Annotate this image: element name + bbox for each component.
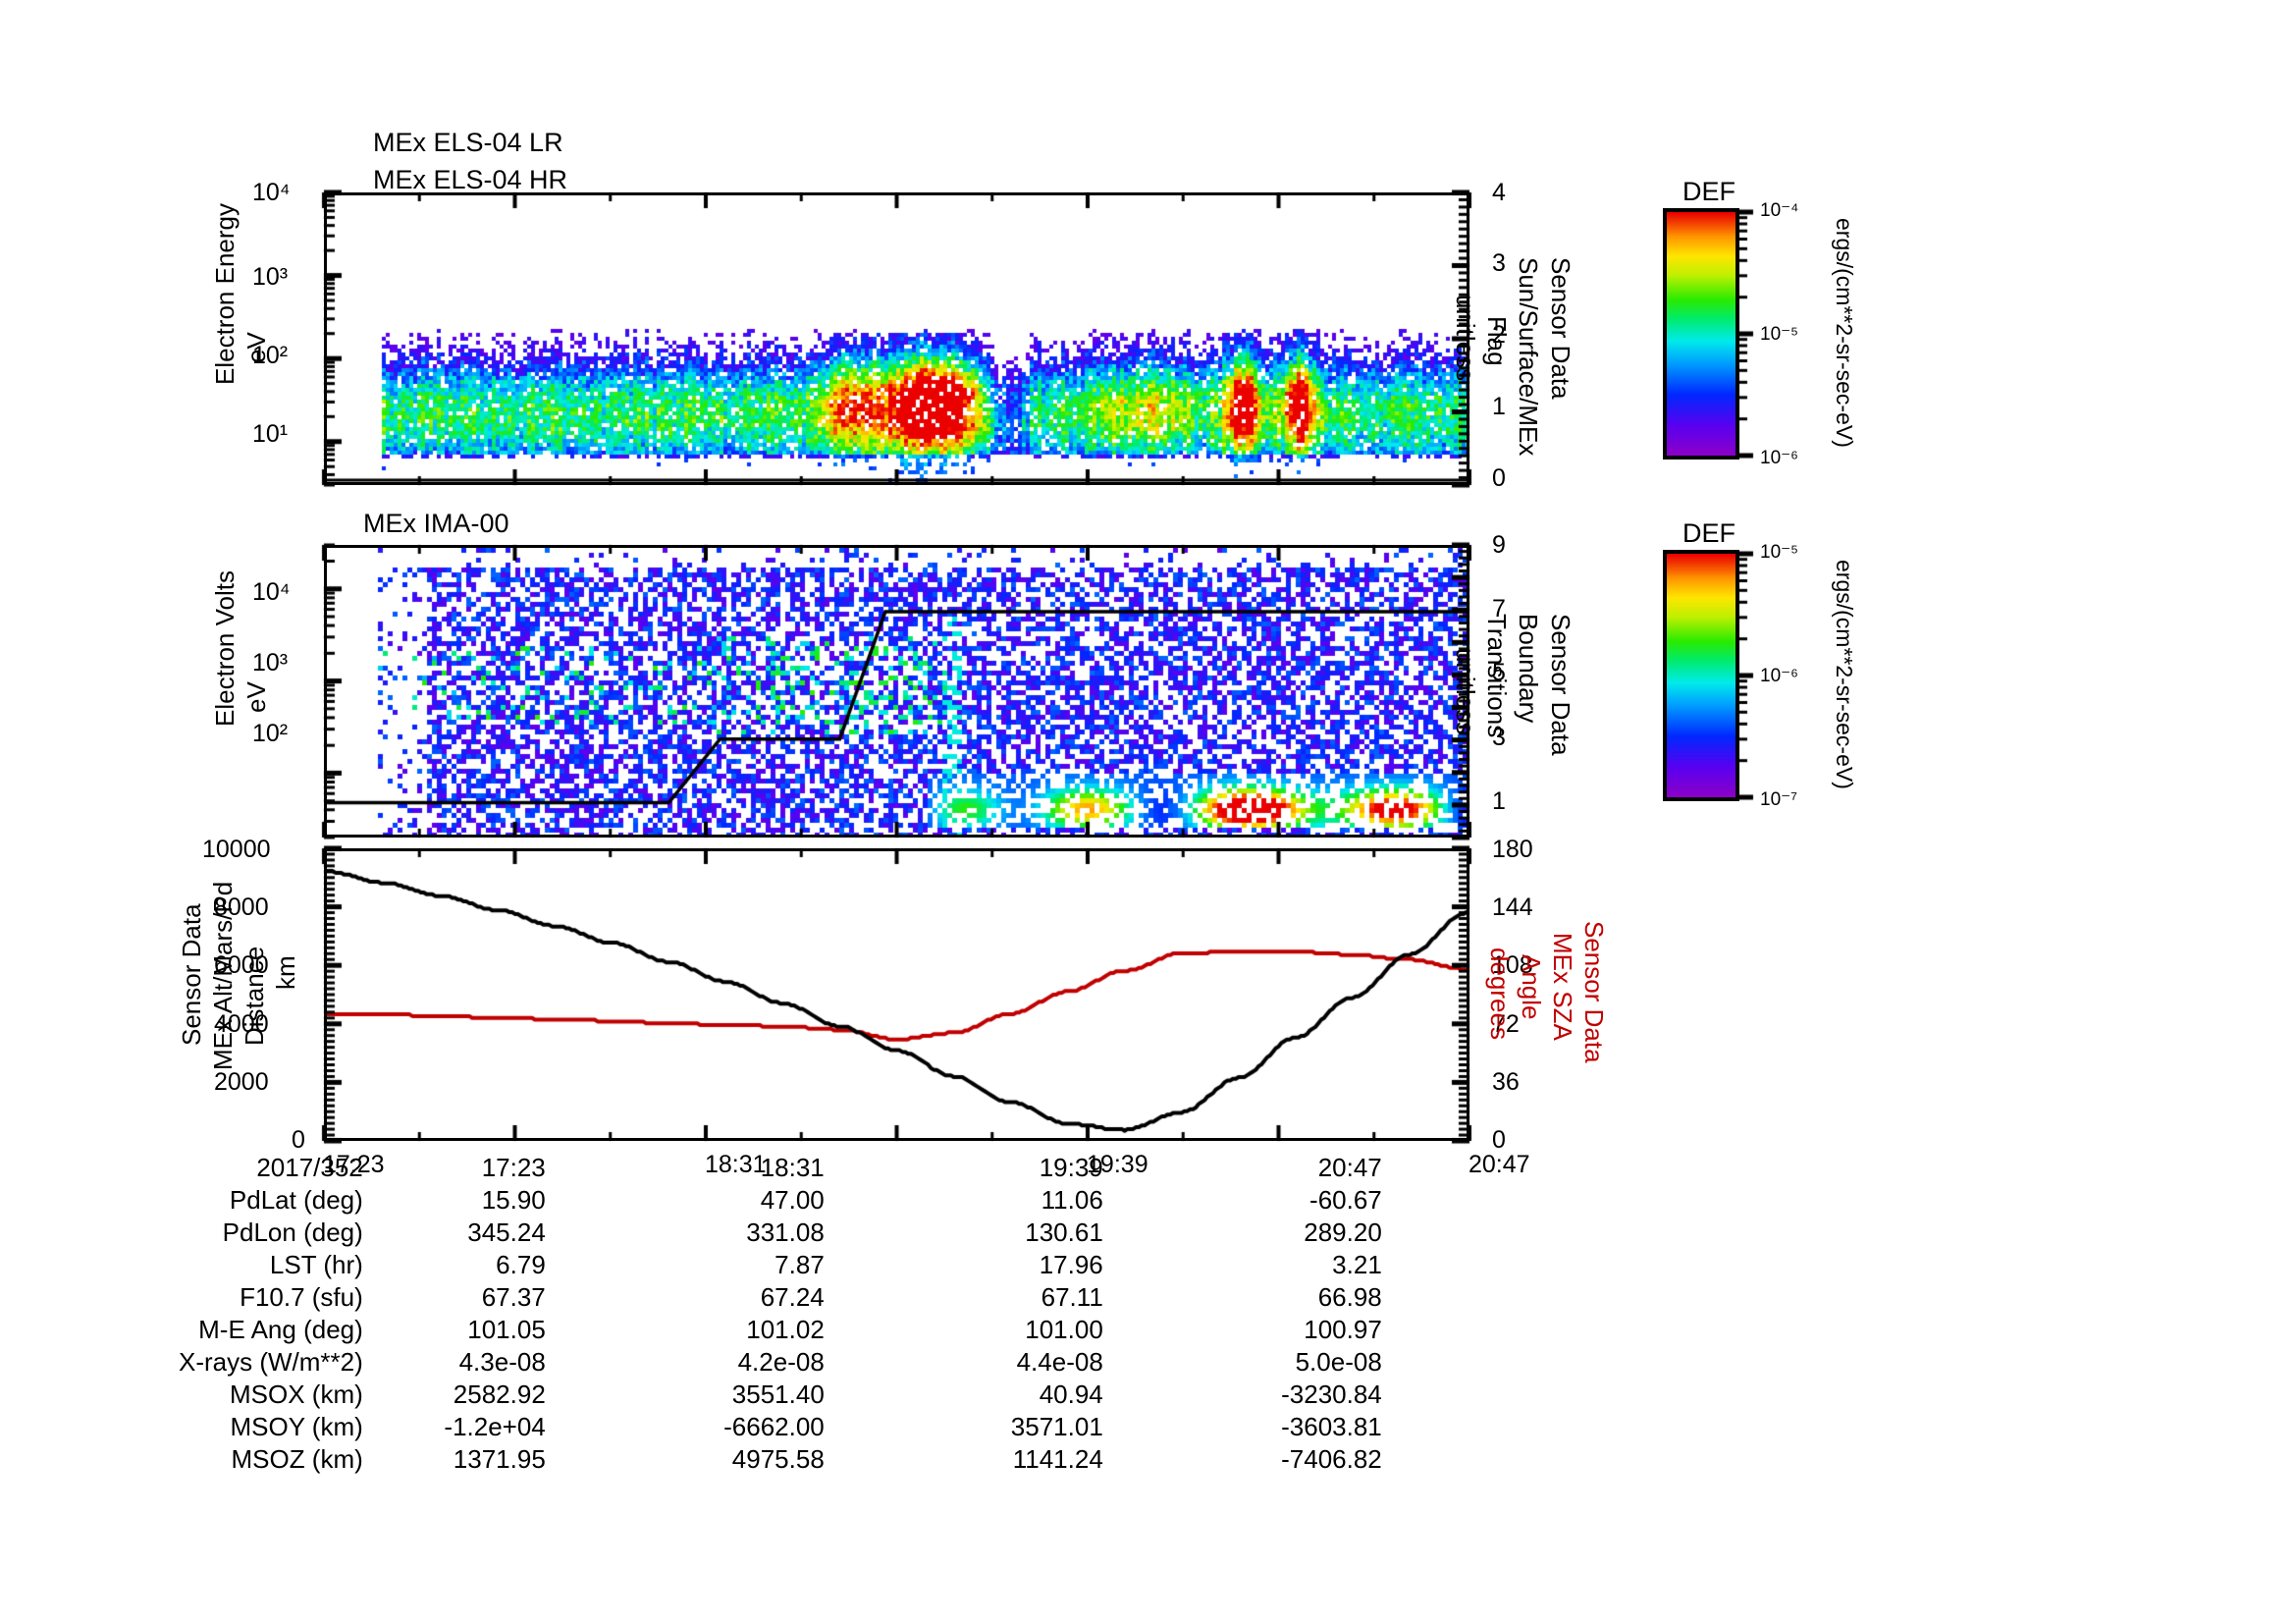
table-cell: 7.87 [548,1250,825,1280]
eph-right-axis-label-4: degrees [1484,947,1515,1040]
time-axis-label: 18:31 [705,1151,767,1179]
table-row: PdLon (deg)345.24331.08130.61289.20 [179,1217,1382,1248]
table-cell: 4.4e-08 [827,1347,1103,1378]
time-axis-label: 19:39 [1087,1151,1148,1179]
table-cell: 3.21 [1105,1250,1382,1280]
table-row-label: MSOZ (km) [179,1444,377,1475]
ima-right-axis-label-2: Boundary [1513,614,1543,723]
eph-rtick-36: 36 [1492,1068,1520,1097]
table-cell: -3230.84 [1105,1380,1382,1410]
table-row: M-E Ang (deg)101.05101.02101.00100.97 [179,1315,1382,1345]
table-cell: -1.2e+04 [379,1412,546,1442]
colorbar-ima-units: ergs/(cm**2-sr-sec-eV) [1831,560,1857,789]
table-row: MSOY (km)-1.2e+04-6662.003571.01-3603.81 [179,1412,1382,1442]
table-cell: 130.61 [827,1217,1103,1248]
table-cell: -60.67 [1105,1185,1382,1216]
table-cell: 6.79 [379,1250,546,1280]
table-row-label: F10.7 (sfu) [179,1282,377,1313]
ima-right-axis-label-1: Sensor Data [1545,614,1575,756]
els-rtick-1: 1 [1492,393,1506,421]
els-right-axis-label-2: Sun/Surface/MEx [1513,257,1543,456]
colorbar-els-title: DEF [1682,177,1735,207]
table-cell: 1371.95 [379,1444,546,1475]
table-cell: 18:31 [548,1153,825,1183]
ima-left-axis-label-1: Electron Volts [210,570,240,727]
table-cell: 345.24 [379,1217,546,1248]
colorbar-ima-title: DEF [1682,518,1735,549]
els-rtick-3: 3 [1492,249,1506,278]
panel-els-title-lr: MEx ELS-04 LR [373,128,563,158]
table-row-label: PdLat (deg) [179,1185,377,1216]
els-right-axis-label-3: Flag [1481,316,1512,366]
table-cell: 331.08 [548,1217,825,1248]
panel-ima-axis-ticks [294,535,1502,849]
colorbar-els-max: 10⁻⁴ [1760,199,1798,222]
table-row-label: X-rays (W/m**2) [179,1347,377,1378]
ima-rtick-1: 1 [1492,787,1506,816]
table-row: PdLat (deg)15.9047.0011.06-60.67 [179,1185,1382,1216]
table-row: F10.7 (sfu)67.3767.2467.1166.98 [179,1282,1382,1313]
els-right-axis-label-4: unitless [1450,295,1480,381]
ima-rtick-9: 9 [1492,531,1506,560]
colorbar-ima-gradient [1667,554,1735,797]
eph-left-axis-label-4: km [271,955,301,990]
table-cell: 67.11 [827,1282,1103,1313]
ima-ytick-2: 10² [252,720,288,748]
table-row: MSOZ (km)1371.954975.581141.24-7406.82 [179,1444,1382,1475]
ephemeris-table: 2017/35217:2318:3119:3920:47PdLat (deg)1… [177,1151,1384,1477]
els-rtick-4: 4 [1492,179,1506,207]
table-row-label: MSOY (km) [179,1412,377,1442]
table-cell: 2582.92 [379,1380,546,1410]
eph-left-axis-label-3: Distance [240,947,270,1046]
panel-els-axis-ticks [294,183,1502,497]
table-cell: 4.2e-08 [548,1347,825,1378]
table-row: MSOX (km)2582.923551.4040.94-3230.84 [179,1380,1382,1410]
table-cell: 101.00 [827,1315,1103,1345]
table-row-label: M-E Ang (deg) [179,1315,377,1345]
table-cell: 5.0e-08 [1105,1347,1382,1378]
table-cell: 11.06 [827,1185,1103,1216]
eph-left-axis-label-1: Sensor Data [177,903,207,1046]
table-row: LST (hr)6.797.8717.963.21 [179,1250,1382,1280]
colorbar-ima-max: 10⁻⁵ [1760,541,1798,564]
table-cell: -3603.81 [1105,1412,1382,1442]
table-cell: 100.97 [1105,1315,1382,1345]
ima-right-axis-label-3: Transitions [1481,614,1512,737]
table-cell: 4975.58 [548,1444,825,1475]
colorbar-ima-mid: 10⁻⁶ [1760,665,1798,687]
eph-ytick-2000: 2000 [214,1068,269,1097]
els-left-axis-label-2: eV [241,332,272,363]
eph-right-axis-label-2: MEx SZA [1547,933,1577,1041]
time-axis-label: 17:23 [323,1151,385,1179]
els-ytick-3: 10³ [252,263,288,292]
ima-ytick-4: 10⁴ [252,578,291,607]
colorbar-els-gradient [1667,212,1735,456]
table-cell: 289.20 [1105,1217,1382,1248]
eph-right-axis-label-3: Angle [1516,954,1546,1020]
table-row-label: MSOX (km) [179,1380,377,1410]
table-cell: -7406.82 [1105,1444,1382,1475]
table-cell: 67.24 [548,1282,825,1313]
els-ytick-4: 10⁴ [252,179,291,207]
table-cell: 19:39 [827,1153,1103,1183]
table-cell: 101.05 [379,1315,546,1345]
table-cell: 66.98 [1105,1282,1382,1313]
colorbar-ima-ticks [1737,544,1759,809]
ima-left-axis-label-2: eV [241,681,272,713]
table-cell: 101.02 [548,1315,825,1345]
ima-ytick-3: 10³ [252,649,288,677]
colorbar-els-units: ergs/(cm**2-sr-sec-eV) [1831,218,1857,448]
table-cell: 47.00 [548,1185,825,1216]
table-cell: 67.37 [379,1282,546,1313]
table-cell: -6662.00 [548,1412,825,1442]
els-rtick-0: 0 [1492,464,1506,493]
colorbar-els-ticks [1737,202,1759,467]
eph-rtick-144: 144 [1492,893,1533,922]
table-cell: 17:23 [379,1153,546,1183]
table-cell: 40.94 [827,1380,1103,1410]
eph-right-axis-label-1: Sensor Data [1578,921,1609,1063]
els-ytick-1: 10¹ [252,420,288,449]
els-right-axis-label-1: Sensor Data [1545,257,1575,400]
eph-left-axis-label-2: MEx Alt/Mars/Pd [208,882,239,1070]
table-row: X-rays (W/m**2)4.3e-084.2e-084.4e-085.0e… [179,1347,1382,1378]
table-cell: 17.96 [827,1250,1103,1280]
ima-right-axis-label-4: unitless [1450,648,1480,734]
table-row-label: LST (hr) [179,1250,377,1280]
panel-ephem-axis-ticks [294,839,1502,1153]
colorbar-els-mid: 10⁻⁵ [1760,323,1798,346]
table-cell: 15.90 [379,1185,546,1216]
table-cell: 3571.01 [827,1412,1103,1442]
table-cell: 1141.24 [827,1444,1103,1475]
els-left-axis-label-1: Electron Energy [210,203,240,385]
time-axis-label: 20:47 [1468,1151,1530,1179]
table-cell: 3551.40 [548,1380,825,1410]
colorbar-els-min: 10⁻⁶ [1760,447,1798,469]
eph-ytick-10000: 10000 [202,836,271,864]
colorbar-ima-min: 10⁻⁷ [1760,788,1797,811]
table-cell: 4.3e-08 [379,1347,546,1378]
eph-rtick-180: 180 [1492,836,1533,864]
table-row-label: PdLon (deg) [179,1217,377,1248]
